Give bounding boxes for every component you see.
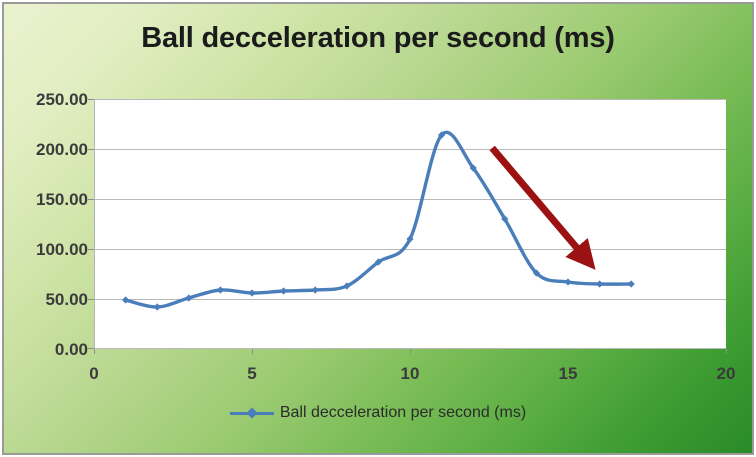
- legend-entry-label: Ball decceleration per second (ms): [280, 404, 526, 422]
- line-marker-icon: [230, 406, 274, 420]
- data-point-marker: [122, 296, 129, 303]
- data-point-marker: [564, 278, 571, 285]
- data-point-marker: [217, 286, 224, 293]
- chart-graphics-layer: [0, 0, 756, 457]
- data-point-marker: [154, 303, 161, 310]
- data-point-marker: [628, 280, 635, 287]
- data-point-marker: [596, 280, 603, 287]
- deceleration-trend-arrow: [492, 148, 584, 256]
- data-point-marker: [312, 286, 319, 293]
- data-point-marker: [280, 287, 287, 294]
- data-point-marker: [248, 289, 255, 296]
- chart-legend: Ball decceleration per second (ms): [0, 404, 756, 422]
- annotation-arrow-group: [492, 148, 584, 256]
- chart-figure: Ball decceleration per second (ms) 250.0…: [0, 0, 756, 457]
